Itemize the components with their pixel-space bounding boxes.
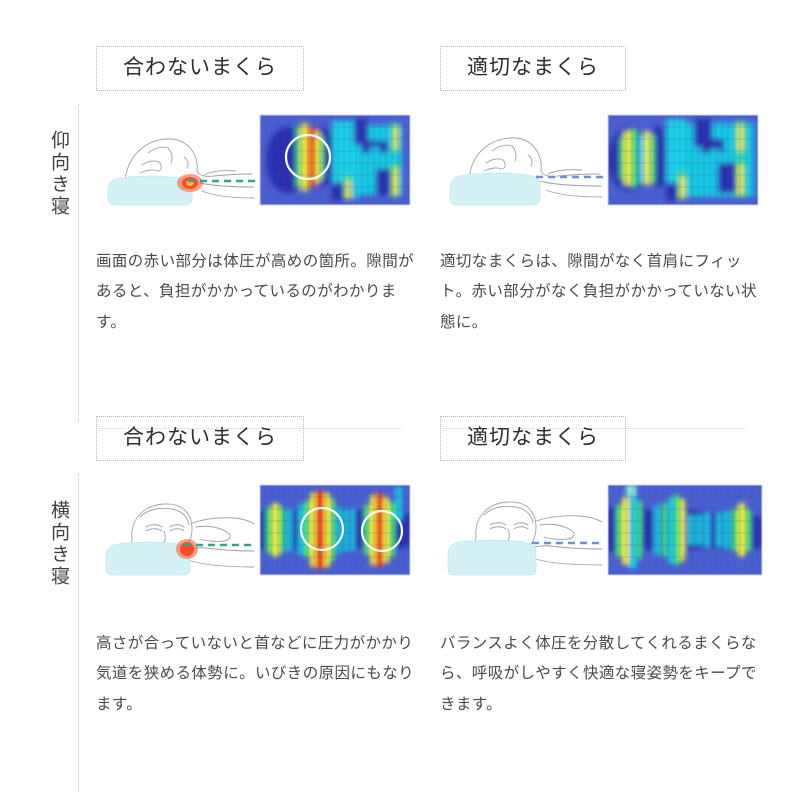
- panel-heading-supine-bad: 合わないまくら: [96, 46, 304, 91]
- row-label-supine: 仰向き寝: [28, 130, 68, 218]
- panel-supine-bad: 合わないまくら: [96, 46, 416, 338]
- supine-body-illustration-bad: [96, 113, 256, 217]
- figure-supine-good: [440, 113, 770, 217]
- figure-side-good: [440, 483, 770, 587]
- figure-side-bad: [96, 483, 416, 587]
- panel-caption-supine-bad: 画面の赤い部分は体圧が高めの箇所。隙間があると、負担がかかっているのがわかります…: [96, 247, 416, 338]
- vertical-divider-row1: [78, 104, 79, 422]
- panel-heading-side-good: 適切なまくら: [440, 416, 626, 461]
- pressure-map-supine-good: [606, 113, 760, 207]
- neck-hotspot: [176, 539, 198, 559]
- panel-side-good: 適切なまくら: [440, 416, 770, 720]
- figure-supine-bad: [96, 113, 416, 217]
- panel-heading-side-bad: 合わないまくら: [96, 416, 304, 461]
- neck-hotspot: [177, 174, 203, 192]
- panel-caption-supine-good: 適切なまくらは、隙間がなく首肩にフィット。赤い部分がなく負担がかかっていない状態…: [440, 247, 770, 338]
- panel-supine-good: 適切なまくら: [440, 46, 770, 338]
- pressure-map-side-bad: [258, 483, 412, 577]
- supine-body-illustration-good: [440, 113, 604, 217]
- vertical-divider-row2: [78, 474, 79, 792]
- panel-side-bad: 合わないまくら: [96, 416, 416, 720]
- pillow-shape: [448, 540, 536, 575]
- side-body-illustration-good: [440, 483, 604, 587]
- pressure-map-supine-bad: [258, 113, 412, 207]
- panel-caption-side-good: バランスよく体圧を分散してくれるまくらなら、呼吸がしやすく快適な寝姿勢をキープで…: [440, 629, 770, 720]
- panel-heading-supine-good: 適切なまくら: [440, 46, 626, 91]
- row-label-side: 横向き寝: [28, 500, 68, 588]
- pressure-map-side-good: [606, 483, 764, 577]
- pillow-shape: [450, 173, 540, 205]
- side-body-illustration-bad: [96, 483, 256, 587]
- pillow-comparison-page: 仰向き寝 横向き寝 合わないまくら: [0, 0, 800, 800]
- panel-caption-side-bad: 高さが合っていないと首などに圧力がかかり気道を狭める体勢に。いびきの原因にもなり…: [96, 629, 416, 720]
